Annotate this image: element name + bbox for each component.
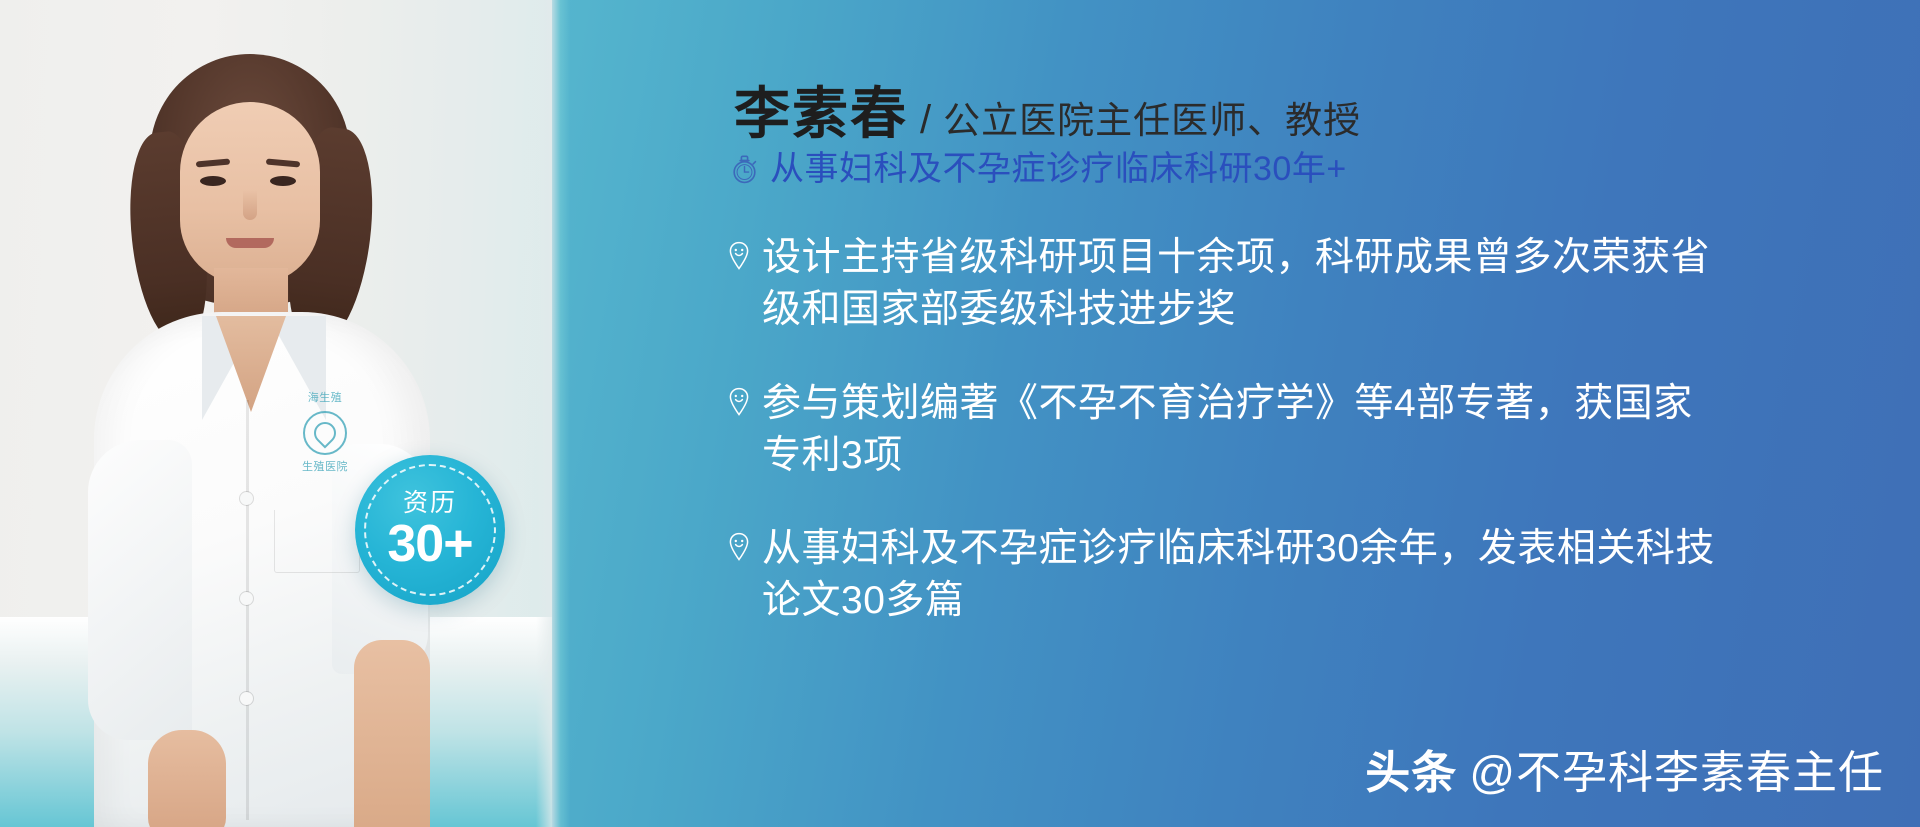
badge-label: 资历	[403, 491, 457, 516]
location-pin-smiley-icon	[724, 387, 754, 417]
coat-logo-line2: 生殖医院	[302, 461, 348, 473]
profile-content: 李素春 / 公立医院主任医师、教授 从事妇科及不孕症诊疗临床科研30年+	[684, 0, 1920, 827]
credentials-list: 设计主持省级科研项目十余项，科研成果曾多次荣获省级和国家部委级科技进步奖 参与策…	[724, 232, 1734, 669]
name-separator: /	[920, 100, 931, 140]
list-item: 参与策划编著《不孕不育治疗学》等4部专著，获国家专利3项	[724, 378, 1734, 482]
stopwatch-icon	[728, 153, 761, 186]
watermark-brand: 头条	[1365, 736, 1457, 801]
doctor-photo: 海生殖 生殖医院	[96, 40, 426, 827]
coat-logo-line1: 海生殖	[308, 392, 343, 404]
doctor-name: 李素春	[734, 86, 908, 142]
photo-mouth	[226, 238, 274, 248]
location-pin-smiley-icon	[724, 532, 754, 562]
location-pin-smiley-icon	[724, 241, 754, 271]
photo-coat-logo: 海生殖 生殖医院	[282, 390, 368, 486]
photo-eye-left	[200, 176, 226, 186]
experience-badge: 资历 30+	[355, 455, 505, 605]
photo-hand	[148, 730, 226, 827]
watermark-handle: @不孕科李素春主任	[1469, 736, 1884, 801]
list-item-text: 参与策划编著《不孕不育治疗学》等4部专著，获国家专利3项	[762, 378, 1722, 482]
photo-eye-right	[270, 176, 296, 186]
photo-coat-placket	[246, 400, 249, 820]
doctor-title: 公立医院主任医师、教授	[943, 102, 1361, 139]
photo-forearm-right	[354, 640, 430, 827]
list-item-text: 设计主持省级科研项目十余项，科研成果曾多次荣获省级和国家部委级科技进步奖	[762, 232, 1722, 336]
photo-coat-button	[240, 592, 253, 605]
list-item: 设计主持省级科研项目十余项，科研成果曾多次荣获省级和国家部委级科技进步奖	[724, 232, 1734, 336]
subtitle-row: 从事妇科及不孕症诊疗临床科研30年+	[728, 152, 1347, 186]
background-seam	[536, 0, 570, 827]
photo-coat-button	[240, 692, 253, 705]
doctor-profile-banner: 海生殖 生殖医院 资历 30+ 李素春 / 公立医院主任医师、教授	[0, 0, 1920, 827]
photo-arm-left	[88, 440, 192, 740]
list-item-text: 从事妇科及不孕症诊疗临床科研30余年，发表相关科技论文30多篇	[762, 523, 1722, 627]
photo-nose	[243, 190, 257, 220]
badge-value: 30+	[387, 518, 472, 570]
name-row: 李素春 / 公立医院主任医师、教授	[734, 86, 1361, 142]
list-item: 从事妇科及不孕症诊疗临床科研30余年，发表相关科技论文30多篇	[724, 523, 1734, 627]
watermark: 头条 @不孕科李素春主任	[1365, 736, 1884, 801]
hospital-mark-icon	[303, 411, 347, 455]
subtitle-text: 从事妇科及不孕症诊疗临床科研30年+	[770, 152, 1347, 186]
photo-coat-button	[240, 492, 253, 505]
photo-coat-pocket	[274, 510, 360, 573]
